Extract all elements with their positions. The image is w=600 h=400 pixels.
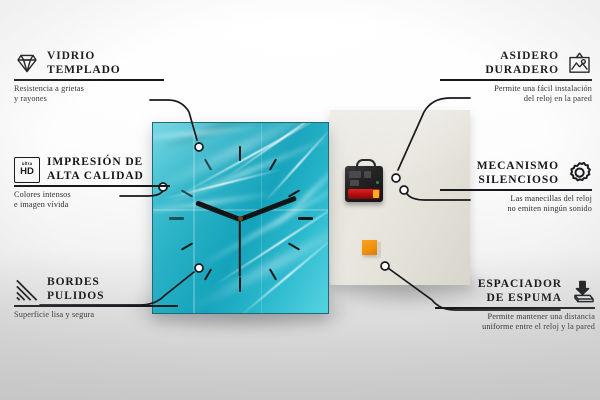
feature-bordes-pulidos: BORDES PULIDOS Superficie lisa y segura [14,276,164,320]
feature-desc-line2: del reloj en la pared [440,94,592,104]
feature-divider [14,305,178,307]
feature-title-line1: BORDES [47,276,104,290]
diamond-icon [14,51,40,77]
clock-tick-9 [169,217,184,220]
feature-divider [440,79,592,81]
feature-divider [14,185,170,187]
feature-espaciador-de-espuma: ESPACIADOR DE ESPUMA Permite mantener un… [435,278,595,332]
feature-header: ultra HD IMPRESIÓN DE ALTA CALIDAD [14,156,159,183]
feature-title-line1: IMPRESIÓN DE [47,156,144,170]
feature-divider [14,79,164,81]
feature-vidrio-templado: VIDRIO TEMPLADO Resistencia a grietas y … [14,50,154,104]
clock-tick-3 [298,217,313,220]
feature-header: ASIDERO DURADERO [440,50,592,77]
polished-edges-icon [14,277,40,303]
feature-desc-line2: y rayones [14,94,154,104]
clock-tick-12 [239,146,241,161]
feature-desc-line2: uniforme entre el reloj y la pared [435,322,595,332]
feature-desc-line1: Las manecillas del reloj [440,194,592,204]
feature-title-line1: MECANISMO [440,160,559,174]
feature-desc-line2: no emiten ningún sonido [440,204,592,214]
movement-hanger-hook [356,159,376,170]
feature-desc-line1: Colores intensos [14,190,159,200]
feature-title-line1: ESPACIADOR [435,278,562,292]
ultra-hd-icon: ultra HD [14,157,40,183]
feature-desc-line1: Permite mantener una distancia [435,312,595,322]
feature-title-line2: DE ESPUMA [435,292,562,306]
glass-clock-face[interactable] [152,122,329,314]
feature-title-line1: ASIDERO [440,50,559,64]
feature-title-line2: ALTA CALIDAD [47,170,144,184]
gear-icon [566,161,592,187]
feature-title-line2: SILENCIOSO [440,174,559,188]
feature-impresion-alta-calidad: ultra HD IMPRESIÓN DE ALTA CALIDAD Color… [14,156,159,210]
movement-detail-a [349,171,361,178]
infographic-canvas: VIDRIO TEMPLADO Resistencia a grietas y … [0,0,600,400]
feature-desc-line1: Permite una fácil instalación [440,84,592,94]
feature-header: MECANISMO SILENCIOSO [440,160,592,187]
clock-center-hub [238,216,243,221]
feature-divider [440,189,592,191]
clock-second-hand [239,219,241,277]
clock-tick-6 [239,277,241,292]
movement-detail-b [364,171,371,178]
foam-spacer[interactable] [362,240,377,255]
feature-desc-line1: Superficie lisa y segura [14,310,164,320]
feature-desc-line2: e imagen vívida [14,200,159,210]
feature-header: VIDRIO TEMPLADO [14,50,154,77]
movement-detail-c [350,180,359,186]
feature-asidero-duradero: ASIDERO DURADERO Permite una fácil insta… [440,50,592,104]
feature-title-line2: PULIDOS [47,290,104,304]
arrow-down-pad-icon [569,279,595,305]
feature-title-line1: VIDRIO [47,50,121,64]
feature-header: BORDES PULIDOS [14,276,164,303]
feature-title-line2: TEMPLADO [47,64,121,78]
feature-divider [435,307,595,309]
movement-indicator [376,181,379,184]
hanging-frame-icon [566,51,592,77]
clock-movement[interactable] [345,166,383,202]
feature-mecanismo-silencioso: MECANISMO SILENCIOSO Las manecillas del … [440,160,592,214]
movement-battery [348,189,380,199]
feature-title-line2: DURADERO [440,64,559,78]
feature-header: ESPACIADOR DE ESPUMA [435,278,595,305]
feature-desc-line1: Resistencia a grietas [14,84,154,94]
hd-badge-hd-text: HD [20,167,34,177]
